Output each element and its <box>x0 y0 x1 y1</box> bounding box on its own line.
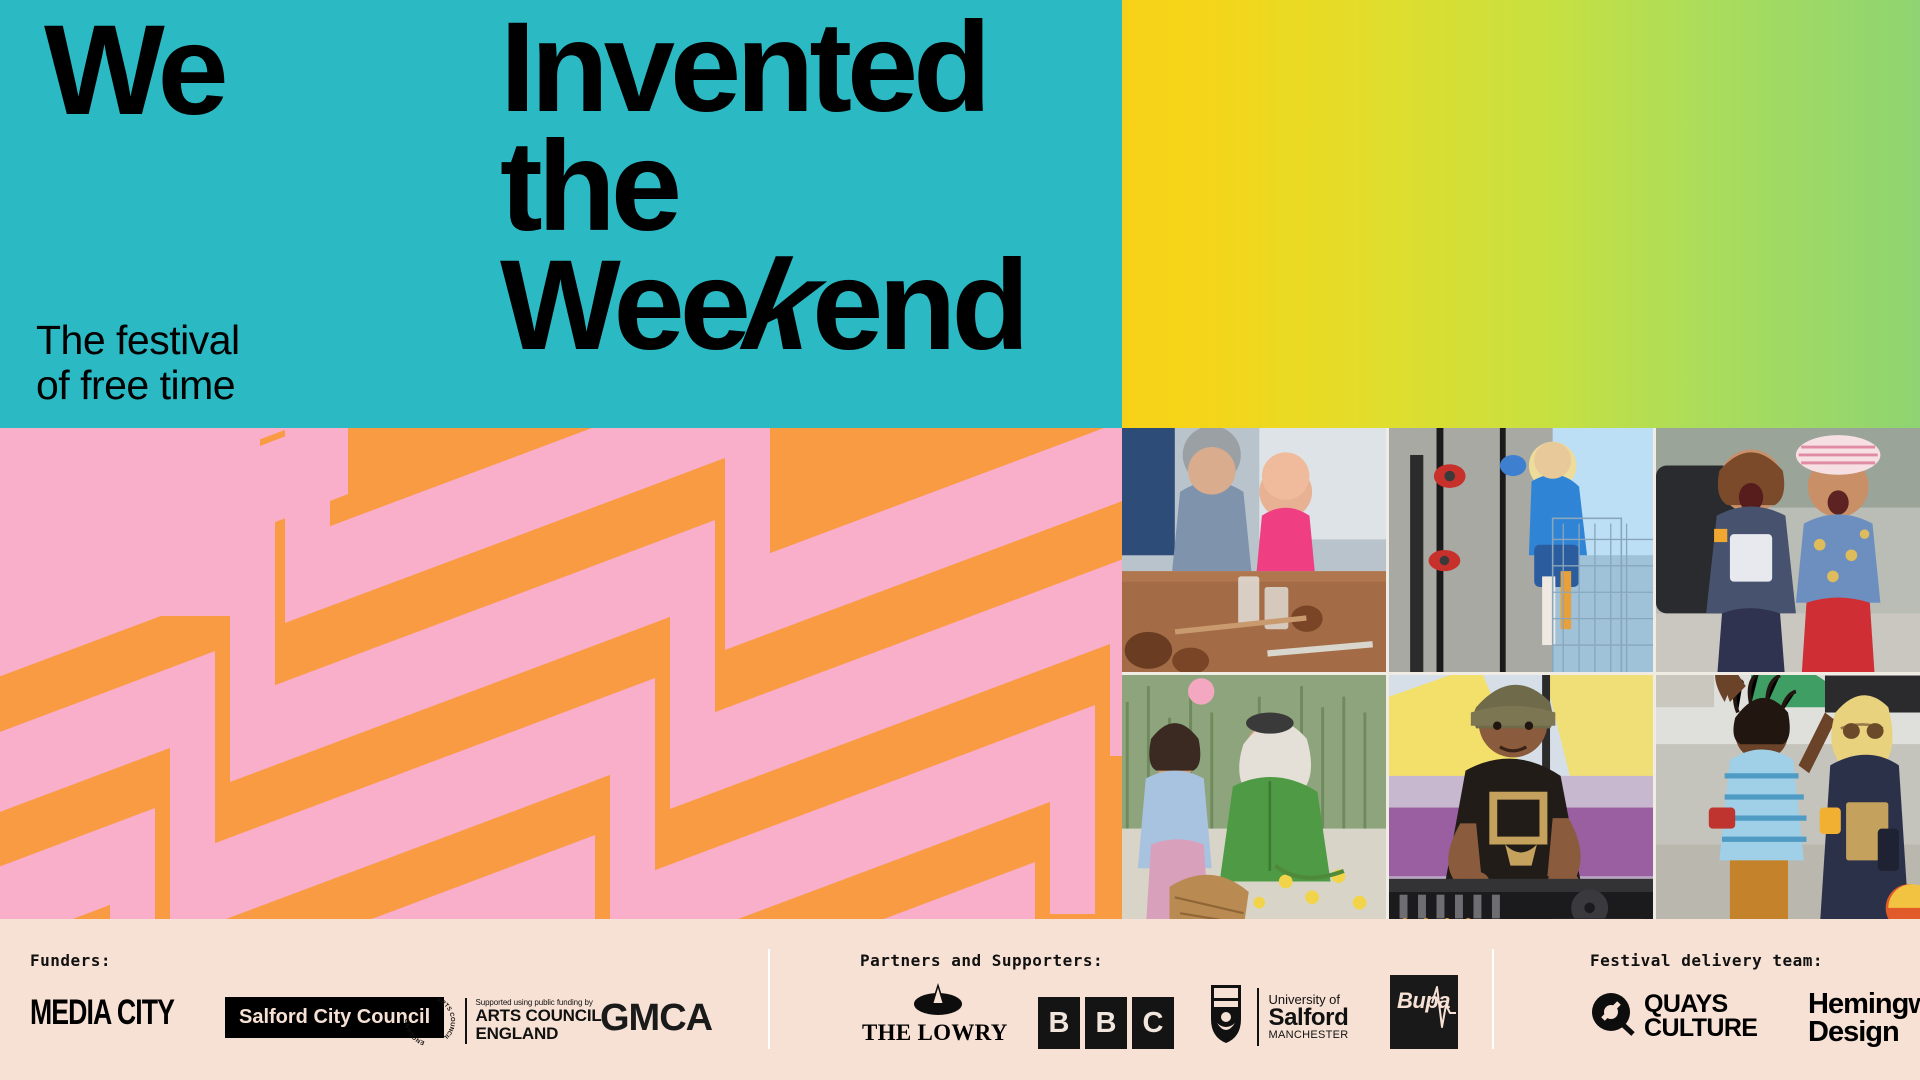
footer-divider-2 <box>1492 949 1494 1049</box>
headline-italic-k: k <box>734 246 823 365</box>
zigzag-pattern-icon <box>0 428 1122 919</box>
the-lowry-logo-text: THE LOWRY <box>862 1020 1008 1046</box>
bupa-pulse-icon <box>1390 975 1458 1049</box>
tagline-line-1: The festival <box>36 318 240 363</box>
hemingway-design-logo[interactable]: Hemingway Design <box>1808 991 1920 1046</box>
photo-gardening <box>1122 675 1386 919</box>
festival-poster: We The festival of free time Invented th… <box>0 0 1920 1080</box>
svg-text:ARTS COUNCIL: ARTS COUNCIL <box>436 997 455 1041</box>
zigzag-pattern-panel <box>0 428 1122 919</box>
headline-main: Invented the Weekend <box>500 8 1025 365</box>
university-of-salford-logo[interactable]: University of Salford MANCHESTER <box>1205 983 1349 1050</box>
quays-culture-logo[interactable]: QUAYS CULTURE <box>1590 991 1757 1042</box>
quays-culture-line-2: CULTURE <box>1644 1017 1757 1041</box>
arts-council-england-logo[interactable]: ENGLAND ARTS COUNCIL Supported using pub… <box>404 995 602 1047</box>
hero-right-panel: Saturday 15 & Sunday 16 June 2024 MediaC… <box>1122 0 1920 428</box>
hemingway-design-text: Hemingway Design <box>1808 991 1920 1046</box>
middle-band <box>0 428 1920 919</box>
bupa-logo[interactable]: Bupa <box>1390 975 1458 1049</box>
the-lowry-logo[interactable]: THE LOWRY <box>862 981 1008 1046</box>
gmca-logo[interactable]: GMCA <box>600 997 712 1040</box>
bbc-logo[interactable]: B B C <box>1038 997 1174 1049</box>
funders-label: Funders: <box>30 951 111 970</box>
arts-council-ring-icon: ENGLAND ARTS COUNCIL <box>404 995 456 1047</box>
university-line-3: MANCHESTER <box>1269 1030 1349 1041</box>
festival-tagline: The festival of free time <box>36 318 240 408</box>
partners-label: Partners and Supporters: <box>860 951 1103 970</box>
arts-council-divider <box>465 998 467 1044</box>
media-city-logo[interactable]: MEDIA CITY <box>30 997 186 1030</box>
hemingway-line-2: Design <box>1808 1019 1920 1047</box>
quays-culture-text: QUAYS CULTURE <box>1644 993 1757 1041</box>
headline-we: We <box>44 8 224 133</box>
svg-text:ENGLAND: ENGLAND <box>405 1018 425 1045</box>
hemingway-line-1: Hemingway <box>1808 991 1920 1019</box>
gmca-logo-text: GMCA <box>600 997 712 1040</box>
headline-line-3: Weekend <box>500 246 1025 365</box>
tagline-line-2: of free time <box>36 363 240 408</box>
arts-council-text: Supported using public funding by ARTS C… <box>476 999 602 1043</box>
quays-culture-line-1: QUAYS <box>1644 993 1757 1017</box>
bbc-letter-b2: B <box>1085 997 1127 1049</box>
headline-end: end <box>812 234 1025 377</box>
photo-laughing-children <box>1656 428 1920 672</box>
the-lowry-mark-icon <box>900 981 970 1020</box>
quays-culture-mark-icon <box>1590 991 1636 1042</box>
bupa-logo-box: Bupa <box>1390 975 1458 1049</box>
hero-band: We The festival of free time Invented th… <box>0 0 1920 428</box>
headline-line-1: Invented <box>500 8 1025 127</box>
footer-group-delivery-team: Festival delivery team: QUAYS CULTURE <box>1590 919 1910 1080</box>
university-line-2: Salford <box>1269 1006 1349 1030</box>
photo-collage-grid <box>1122 428 1920 919</box>
bbc-letter-b1: B <box>1038 997 1080 1049</box>
university-divider <box>1257 988 1259 1046</box>
footer-logos-bar: Funders: MEDIA CITY Salford City Council… <box>0 919 1920 1080</box>
university-crest-icon <box>1205 983 1247 1050</box>
headline-line-2: the <box>500 127 1025 246</box>
footer-group-partners: Partners and Supporters: THE LOWRY B B C <box>860 919 1480 1080</box>
delivery-team-label: Festival delivery team: <box>1590 951 1823 970</box>
photo-pottery-workshop <box>1122 428 1386 672</box>
media-city-logo-text: MEDIA CITY <box>30 993 174 1033</box>
footer-divider-1 <box>768 949 770 1049</box>
bbc-letter-c: C <box>1132 997 1174 1049</box>
photo-festival-goers <box>1656 675 1920 919</box>
photo-dj-set <box>1389 675 1653 919</box>
arts-council-line-1: ARTS COUNCIL <box>476 1007 602 1025</box>
hero-left-panel: We The festival of free time Invented th… <box>0 0 1122 428</box>
headline-wee: Wee <box>500 234 746 377</box>
footer-group-funders: Funders: MEDIA CITY Salford City Council… <box>30 919 760 1080</box>
photo-climbing-wall <box>1389 428 1653 672</box>
university-text: University of Salford MANCHESTER <box>1269 993 1349 1041</box>
arts-council-line-2: ENGLAND <box>476 1025 602 1043</box>
